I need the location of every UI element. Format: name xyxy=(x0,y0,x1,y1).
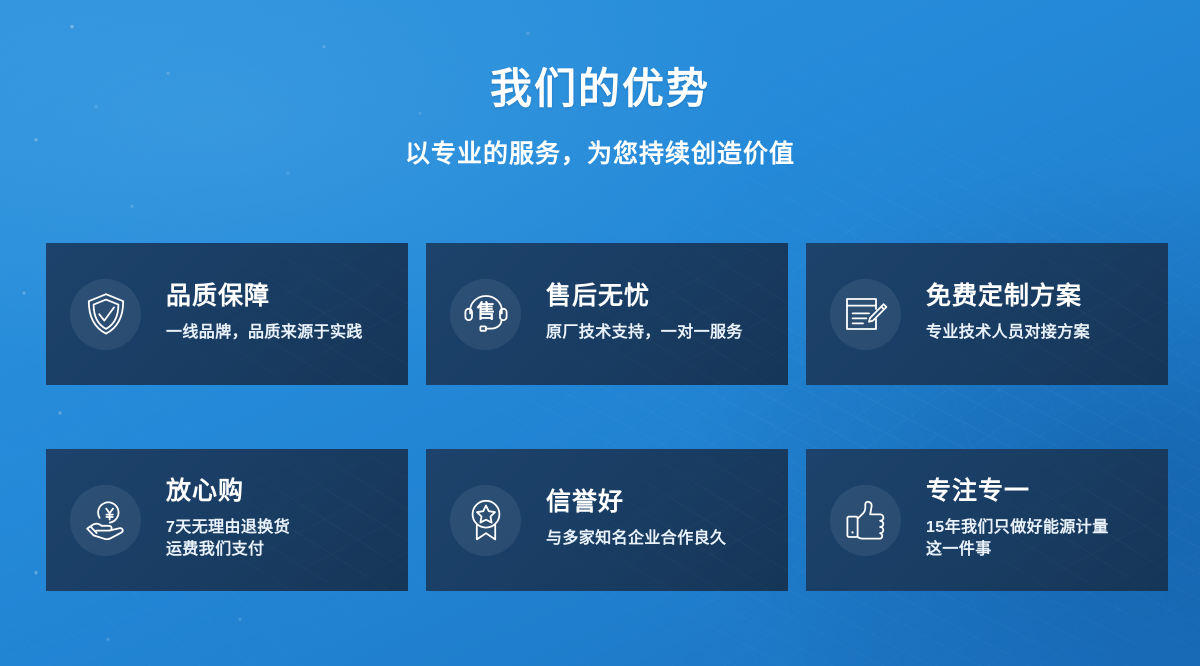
advantage-card-grid: 品质保障 一线品牌，品质来源于实践 售 售后无忧 xyxy=(46,243,1168,591)
card-desc-line: 与多家知名企业合作良久 xyxy=(546,528,726,551)
card-desc-line: 原厂技术支持，一对一服务 xyxy=(546,322,743,345)
advantage-card-aftersales[interactable]: 售 售后无忧 原厂技术支持，一对一服务 xyxy=(426,243,788,385)
shield-check-icon xyxy=(70,279,141,350)
document-pencil-icon xyxy=(830,279,901,350)
card-desc-line: 运费我们支付 xyxy=(166,539,290,562)
header: 我们的优势 以专业的服务，为您持续创造价值 xyxy=(0,0,1200,167)
advantage-card-focus[interactable]: 专注专一 15年我们只做好能源计量 这一件事 xyxy=(806,449,1168,591)
card-desc-line: 7天无理由退换货 xyxy=(166,517,290,540)
advantage-card-quality[interactable]: 品质保障 一线品牌，品质来源于实践 xyxy=(46,243,408,385)
advantage-text: 品质保障 一线品牌，品质来源于实践 xyxy=(166,283,363,344)
headset-icon-char: 售 xyxy=(475,299,495,322)
card-desc: 原厂技术支持，一对一服务 xyxy=(546,322,743,345)
card-title: 专注专一 xyxy=(926,478,1109,506)
card-desc: 与多家知名企业合作良久 xyxy=(546,528,726,551)
card-title: 品质保障 xyxy=(166,283,363,311)
hand-yen-coin-icon xyxy=(70,485,141,556)
thumbs-up-icon xyxy=(830,485,901,556)
card-desc: 一线品牌，品质来源于实践 xyxy=(166,322,363,345)
page-subtitle: 以专业的服务，为您持续创造价值 xyxy=(0,142,1200,167)
card-desc-line: 这一件事 xyxy=(926,539,1109,562)
card-desc: 7天无理由退换货 运费我们支付 xyxy=(166,517,290,562)
advantage-text: 免费定制方案 专业技术人员对接方案 xyxy=(926,283,1090,344)
headset-icon: 售 xyxy=(450,279,521,350)
card-desc: 专业技术人员对接方案 xyxy=(926,322,1090,345)
medal-star-icon xyxy=(450,485,521,556)
card-title: 放心购 xyxy=(166,478,290,506)
card-title: 信誉好 xyxy=(546,489,726,517)
advantage-card-free-solution[interactable]: 免费定制方案 专业技术人员对接方案 xyxy=(806,243,1168,385)
card-desc-line: 专业技术人员对接方案 xyxy=(926,322,1090,345)
advantage-text: 专注专一 15年我们只做好能源计量 这一件事 xyxy=(926,478,1109,562)
card-title: 售后无忧 xyxy=(546,283,743,311)
advantage-text: 信誉好 与多家知名企业合作良久 xyxy=(546,489,726,550)
card-desc-line: 15年我们只做好能源计量 xyxy=(926,517,1109,540)
card-title: 免费定制方案 xyxy=(926,283,1090,311)
advantages-banner: 我们的优势 以专业的服务，为您持续创造价值 品质保障 一线品牌，品质来源于实践 xyxy=(0,0,1200,666)
card-desc: 15年我们只做好能源计量 这一件事 xyxy=(926,517,1109,562)
card-desc-line: 一线品牌，品质来源于实践 xyxy=(166,322,363,345)
advantage-card-reputation[interactable]: 信誉好 与多家知名企业合作良久 xyxy=(426,449,788,591)
advantage-card-safe-purchase[interactable]: 放心购 7天无理由退换货 运费我们支付 xyxy=(46,449,408,591)
page-title: 我们的优势 xyxy=(0,68,1200,110)
advantage-text: 售后无忧 原厂技术支持，一对一服务 xyxy=(546,283,743,344)
advantage-text: 放心购 7天无理由退换货 运费我们支付 xyxy=(166,478,290,562)
